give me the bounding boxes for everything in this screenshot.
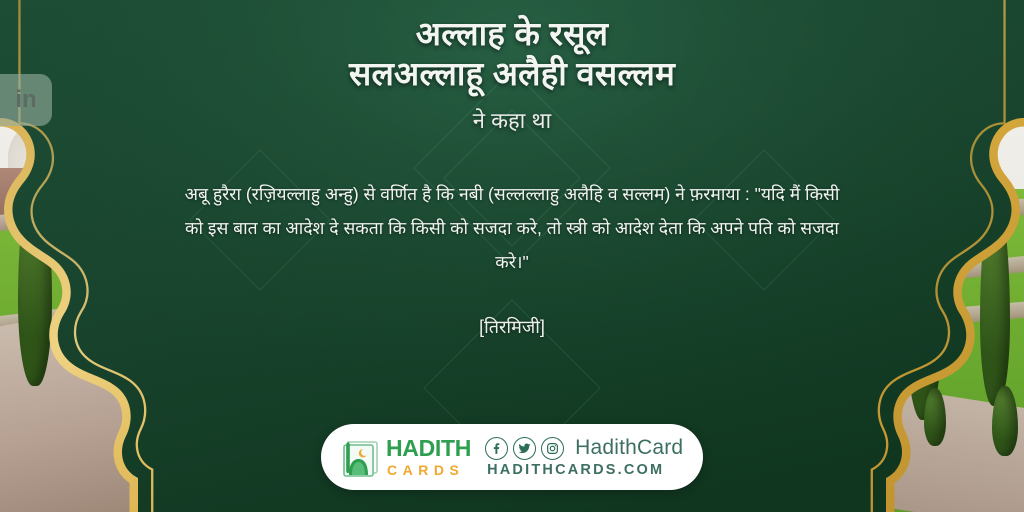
footer-branding-bar[interactable]: HADITH CARDS HadithC: [321, 424, 703, 490]
mosque-icon: [339, 437, 381, 477]
brand-hadith-text: HADITH: [386, 437, 471, 460]
brand-logo[interactable]: HADITH CARDS: [339, 437, 471, 477]
brand-wordmark: HADITH CARDS: [386, 437, 471, 477]
brand-cards-text: CARDS: [387, 463, 471, 477]
hadith-source: [तिरमिजी]: [479, 315, 545, 339]
instagram-icon[interactable]: [541, 437, 564, 460]
title-block: अल्लाह के रसूल सलअल्लाहू अलैही वसल्लम ने…: [152, 14, 872, 135]
footer-social-and-domain: HadithCard HADITHCARDS.COM: [485, 436, 683, 478]
linkedin-label: in: [15, 86, 36, 114]
linkedin-share-button[interactable]: in: [0, 74, 52, 126]
website-domain-text: HADITHCARDS.COM: [487, 462, 683, 478]
title-line-2: सलअल्लाहू अलैही वसल्लम: [152, 54, 872, 94]
twitter-icon[interactable]: [513, 437, 536, 460]
brand-name-text: HadithCard: [575, 436, 683, 460]
facebook-icon[interactable]: [485, 437, 508, 460]
subtitle: ने कहा था: [152, 105, 872, 135]
title-line-1: अल्लाह के रसूल: [152, 14, 872, 54]
hadith-body-text: अबू हुरैरा (रज़ियल्लाहु अन्हु) से वर्णित…: [182, 177, 842, 279]
social-links-row: HadithCard: [485, 436, 683, 460]
